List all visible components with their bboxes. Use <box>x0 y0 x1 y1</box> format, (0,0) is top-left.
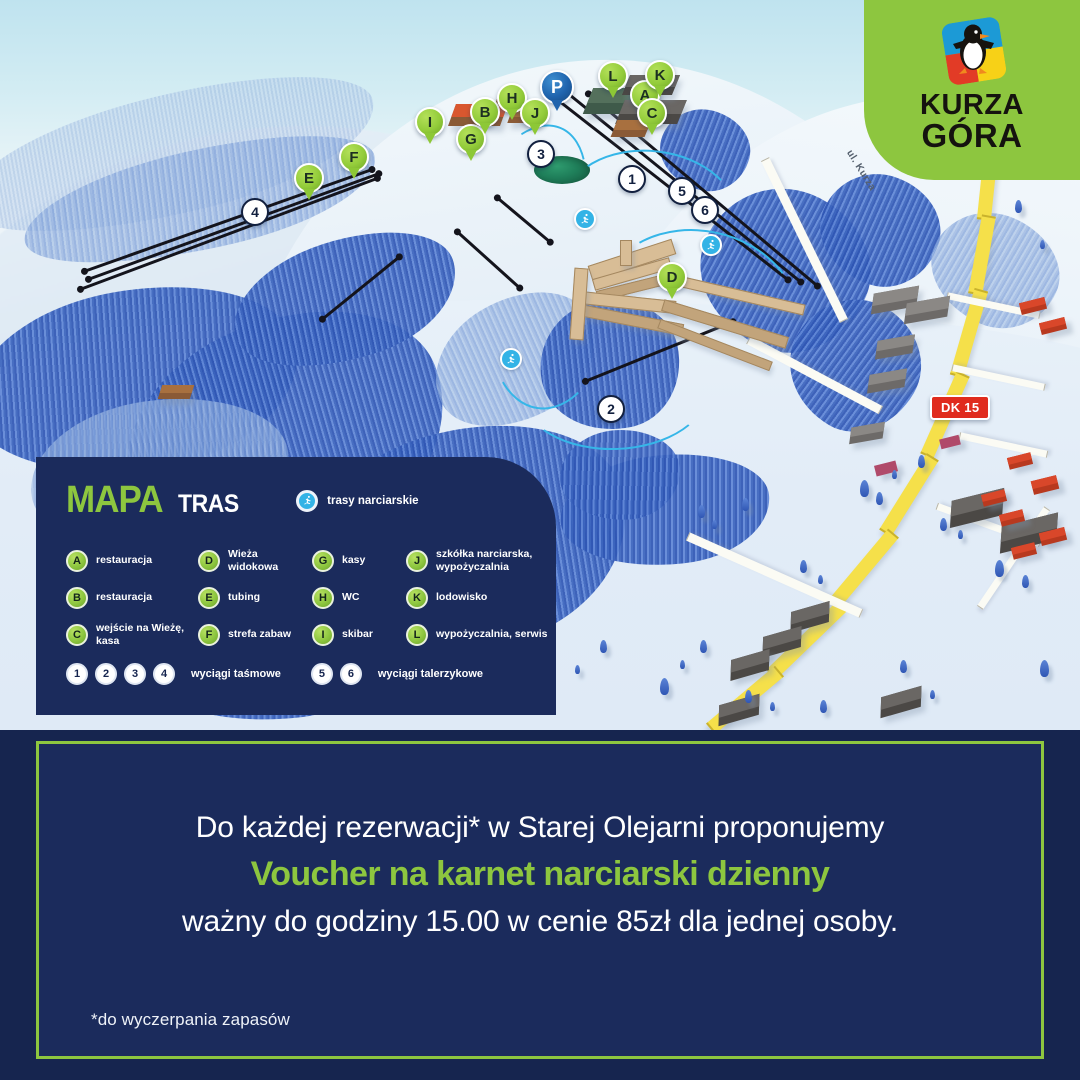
promo-line-highlight: Voucher na karnet narciarski dzienny <box>91 852 989 897</box>
resort-map[interactable]: ul. Kurza DK 15 P I G B H <box>0 0 1080 730</box>
promo-footnote: *do wyczerpania zapasów <box>91 1010 290 1030</box>
map-marker-b[interactable]: B <box>470 97 500 127</box>
map-marker-j[interactable]: J <box>520 98 550 128</box>
legend-label-h: WC <box>342 591 360 604</box>
road-sign-dk15: DK 15 <box>930 395 990 420</box>
legend-title-sub: TRAS <box>178 490 239 519</box>
legend-badge-h: H <box>312 587 334 609</box>
ski-resort-map-poster: ul. Kurza DK 15 P I G B H <box>0 0 1080 1080</box>
map-legend-panel: MAPA TRAS trasy narciarskie A <box>36 457 556 715</box>
legend-header: MAPA TRAS trasy narciarskie <box>66 479 536 522</box>
legend-badge-g: G <box>312 550 334 572</box>
map-marker-k[interactable]: K <box>645 60 675 90</box>
map-marker-e[interactable]: E <box>294 163 324 193</box>
logo-mark <box>939 18 1005 88</box>
legend-lift-badge-1: 1 <box>66 663 88 685</box>
legend-label-k: lodowisko <box>436 591 487 604</box>
ski-trail-icon <box>574 208 596 230</box>
legend-lift-badge-3: 3 <box>124 663 146 685</box>
building <box>158 385 195 399</box>
map-lift-marker-1[interactable]: 1 <box>618 165 646 193</box>
legend-badge-b: B <box>66 587 88 609</box>
legend-item-f[interactable]: F strefa zabaw <box>198 616 308 653</box>
legend-title: MAPA TRAS <box>66 479 244 522</box>
logo-name-line2: GÓRA <box>920 120 1024 152</box>
legend-badge-f: F <box>198 624 220 646</box>
map-lift-marker-2[interactable]: 2 <box>597 395 625 423</box>
promo-line-3: ważny do godziny 15.00 w cenie 85zł dla … <box>91 902 989 942</box>
legend-badge-e: E <box>198 587 220 609</box>
legend-item-i[interactable]: I skibar <box>312 616 402 653</box>
map-marker-f[interactable]: F <box>339 142 369 172</box>
legend-label-e: tubing <box>228 591 260 604</box>
map-marker-d[interactable]: D <box>657 262 687 292</box>
legend-label-a: restauracja <box>96 554 152 567</box>
logo-name-line1: KURZA <box>920 92 1024 120</box>
legend-item-h[interactable]: H WC <box>312 579 402 616</box>
promo-banner-area: Do każdej rezerwacji* w Starej Olejarni … <box>0 730 1080 1080</box>
promo-line-1: Do każdej rezerwacji* w Starej Olejarni … <box>91 808 989 848</box>
map-lift-marker-6[interactable]: 6 <box>691 196 719 224</box>
legend-trail-key: trasy narciarskie <box>296 490 418 512</box>
ski-trail-icon <box>700 234 722 256</box>
map-lift-marker-3[interactable]: 3 <box>527 140 555 168</box>
map-marker-parking[interactable]: P <box>540 70 574 104</box>
legend-label-d: Wieża widokowa <box>228 548 308 573</box>
legend-label-j: szkółka narciarska, wypożyczalnia <box>436 548 556 573</box>
legend-badge-c: C <box>66 624 88 646</box>
legend-label-f: strefa zabaw <box>228 628 291 641</box>
skier-icon <box>296 490 318 512</box>
legend-badge-d: D <box>198 550 220 572</box>
resort-logo[interactable]: KURZA GÓRA <box>864 0 1080 180</box>
legend-title-main: MAPA <box>66 479 163 522</box>
legend-item-e[interactable]: E tubing <box>198 579 308 616</box>
legend-lift-badge-5: 5 <box>311 663 333 685</box>
legend-label-c: wejście na Wieżę, kasa <box>96 622 194 647</box>
legend-badge-a: A <box>66 550 88 572</box>
legend-item-c[interactable]: C wejście na Wieżę, kasa <box>66 616 194 653</box>
legend-lift-groups: 1 2 3 4 wyciągi taśmowe 5 6 wyciągi tale… <box>66 663 536 685</box>
legend-item-k[interactable]: K lodowisko <box>406 579 556 616</box>
legend-trail-key-label: trasy narciarskie <box>327 495 418 507</box>
logo-wordmark: KURZA GÓRA <box>920 92 1024 152</box>
legend-badge-k: K <box>406 587 428 609</box>
map-lift-marker-4[interactable]: 4 <box>241 198 269 226</box>
map-marker-c[interactable]: C <box>637 98 667 128</box>
legend-lift-group-belt: 1 2 3 4 wyciągi taśmowe <box>66 663 311 685</box>
penguin-icon <box>947 22 999 80</box>
promo-banner: Do każdej rezerwacji* w Starej Olejarni … <box>36 741 1044 1059</box>
legend-items-grid: A restauracja D Wieża widokowa G kasy J … <box>66 542 536 653</box>
legend-lift-badge-4: 4 <box>153 663 175 685</box>
legend-lift-label-belt: wyciągi taśmowe <box>191 668 281 680</box>
legend-label-l: wypożyczalnia, serwis <box>436 628 547 641</box>
ski-trail-icon <box>500 348 522 370</box>
legend-lift-badge-6: 6 <box>340 663 362 685</box>
legend-item-d[interactable]: D Wieża widokowa <box>198 542 308 579</box>
map-lift-marker-5[interactable]: 5 <box>668 177 696 205</box>
legend-item-l[interactable]: L wypożyczalnia, serwis <box>406 616 556 653</box>
map-marker-l[interactable]: L <box>598 61 628 91</box>
legend-lift-label-platter: wyciągi talerzykowe <box>378 668 483 680</box>
legend-lift-badge-2: 2 <box>95 663 117 685</box>
legend-item-g[interactable]: G kasy <box>312 542 402 579</box>
legend-label-g: kasy <box>342 554 365 567</box>
map-marker-i[interactable]: I <box>415 107 445 137</box>
legend-lift-group-platter: 5 6 wyciągi talerzykowe <box>311 663 513 685</box>
legend-badge-l: L <box>406 624 428 646</box>
legend-item-b[interactable]: B restauracja <box>66 579 194 616</box>
legend-label-i: skibar <box>342 628 373 641</box>
tower-top <box>620 240 632 266</box>
legend-label-b: restauracja <box>96 591 152 604</box>
legend-badge-j: J <box>406 550 428 572</box>
legend-badge-i: I <box>312 624 334 646</box>
legend-item-j[interactable]: J szkółka narciarska, wypożyczalnia <box>406 542 556 579</box>
legend-item-a[interactable]: A restauracja <box>66 542 194 579</box>
